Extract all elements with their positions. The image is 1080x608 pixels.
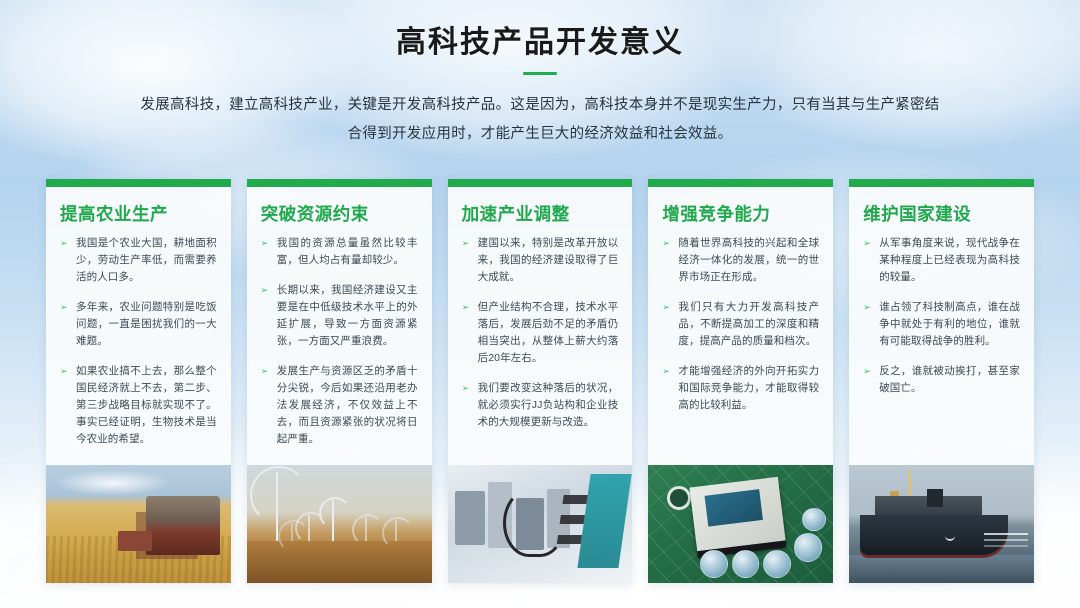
list-item: ➢ 我国是个农业大国，耕地面积少，劳动生产率低，而需要养活的人口多。 [60,235,217,286]
page-title: 高科技产品开发意义 [0,24,1080,62]
card-title: 突破资源约束 [261,204,418,225]
arrow-bullet-icon: ➢ [462,299,472,367]
list-item: ➢ 随着世界高科技的兴起和全球经济一体化的发展，统一的世界市场正在形成。 [662,235,819,286]
list-item: ➢ 反之，谁就被动挨打，甚至家破国亡。 [863,363,1020,397]
card-body: 突破资源约束 ➢ 我国的资源总量虽然比较丰富，但人均占有量却较少。 ➢ 长期以来… [247,187,432,465]
list-item: ➢ 从军事角度来说，现代战争在某种程度上已经表现为高科技的较量。 [863,235,1020,286]
arrow-bullet-icon: ➢ [863,299,873,350]
arrow-bullet-icon: ➢ [662,363,672,414]
list-item: ➢ 但产业结构不合理，技术水平落后，发展后劲不足的矛盾仍相当突出，从整体上薪大约… [462,299,619,367]
card-photo-wind-turbines [247,465,432,583]
card-accelerate-industry-adjustment[interactable]: 加速产业调整 ➢ 建国以来，特别是改革开放以来，我国的经济建设取得了巨大成就。 … [448,179,633,583]
page-subtitle: 发展高科技，建立高科技产业，关键是开发高科技产品。这是因为，高科技本身并不是现实… [140,91,940,149]
card-improve-agriculture[interactable]: 提高农业生产 ➢ 我国是个农业大国，耕地面积少，劳动生产率低，而需要养活的人口多… [46,179,231,583]
bullet-list: ➢ 我国是个农业大国，耕地面积少，劳动生产率低，而需要养活的人口多。 ➢ 多年来… [60,235,217,448]
arrow-bullet-icon: ➢ [462,235,472,286]
list-item: ➢ 才能增强经济的外向开拓实力和国际竞争能力，才能取得较高的比较利益。 [662,363,819,414]
card-safeguard-national-construction[interactable]: 维护国家建设 ➢ 从军事角度来说，现代战争在某种程度上已经表现为高科技的较量。 … [849,179,1034,583]
card-body: 加速产业调整 ➢ 建国以来，特别是改革开放以来，我国的经济建设取得了巨大成就。 … [448,187,633,465]
card-title: 加速产业调整 [462,204,619,225]
list-item: ➢ 长期以来，我国经济建设又主要是在中低级技术水平上的外延扩展，导致一方面资源紧… [261,282,418,350]
bullet-text: 多年来，农业问题特别是吃饭问题，一直是困扰我们的一大难题。 [76,299,217,350]
list-item: ➢ 建国以来，特别是改革开放以来，我国的经济建设取得了巨大成就。 [462,235,619,286]
bullet-text: 我国的资源总量虽然比较丰富，但人均占有量却较少。 [277,235,418,269]
arrow-bullet-icon: ➢ [261,282,271,350]
list-item: ➢ 发展生产与资源区乏的矛盾十分尖锐，今后如果还沿用老办法发展经济，不仅效益上不… [261,363,418,448]
bullet-text: 我国是个农业大国，耕地面积少，劳动生产率低，而需要养活的人口多。 [76,235,217,286]
bullet-text: 才能增强经济的外向开拓实力和国际竞争能力，才能取得较高的比较利益。 [678,363,819,414]
bullet-list: ➢ 我国的资源总量虽然比较丰富，但人均占有量却较少。 ➢ 长期以来，我国经济建设… [261,235,418,448]
bullet-text: 但产业结构不合理，技术水平落后，发展后劲不足的矛盾仍相当突出，从整体上薪大约落后… [478,299,619,367]
arrow-bullet-icon: ➢ [863,235,873,286]
bullet-text: 我们只有大力开发高科技产品，不断提高加工的深度和精度，提高产品的质量和档次。 [678,299,819,350]
card-photo-naval-warship [849,465,1034,583]
card-body: 提高农业生产 ➢ 我国是个农业大国，耕地面积少，劳动生产率低，而需要养活的人口多… [46,187,231,465]
bullet-text: 我们要改变这种落后的状况，就必须实行JJ负站构和企业技术的大规模更新与改造。 [478,380,619,431]
card-accent-bar [247,179,432,187]
card-title: 增强竞争能力 [662,204,819,225]
arrow-bullet-icon: ➢ [662,299,672,350]
title-divider [523,72,557,75]
card-enhance-competitiveness[interactable]: 增强竞争能力 ➢ 随着世界高科技的兴起和全球经济一体化的发展，统一的世界市场正在… [648,179,833,583]
card-photo-factory-automation [448,465,633,583]
card-accent-bar [448,179,633,187]
card-break-resource-constraints[interactable]: 突破资源约束 ➢ 我国的资源总量虽然比较丰富，但人均占有量却较少。 ➢ 长期以来… [247,179,432,583]
card-title: 提高农业生产 [60,204,217,225]
list-item: ➢ 谁占领了科技制高点，谁在战争中就处于有利的地位，谁就有可能取得战争的胜利。 [863,299,1020,350]
arrow-bullet-icon: ➢ [60,363,70,448]
bullet-text: 发展生产与资源区乏的矛盾十分尖锐，今后如果还沿用老办法发展经济，不仅效益上不去，… [277,363,418,448]
card-accent-bar [849,179,1034,187]
arrow-bullet-icon: ➢ [60,235,70,286]
slide-header: 高科技产品开发意义 发展高科技，建立高科技产业，关键是开发高科技产品。这是因为，… [0,24,1080,149]
bullet-text: 建国以来，特别是改革开放以来，我国的经济建设取得了巨大成就。 [478,235,619,286]
list-item: ➢ 我们要改变这种落后的状况，就必须实行JJ负站构和企业技术的大规模更新与改造。 [462,380,619,431]
card-accent-bar [46,179,231,187]
bullet-list: ➢ 随着世界高科技的兴起和全球经济一体化的发展，统一的世界市场正在形成。 ➢ 我… [662,235,819,414]
list-item: ➢ 我国的资源总量虽然比较丰富，但人均占有量却较少。 [261,235,418,269]
card-body: 增强竞争能力 ➢ 随着世界高科技的兴起和全球经济一体化的发展，统一的世界市场正在… [648,187,833,465]
bullet-text: 从军事角度来说，现代战争在某种程度上已经表现为高科技的较量。 [879,235,1020,286]
card-title: 维护国家建设 [863,204,1020,225]
card-accent-bar [648,179,833,187]
card-body: 维护国家建设 ➢ 从军事角度来说，现代战争在某种程度上已经表现为高科技的较量。 … [849,187,1034,465]
bullet-text: 长期以来，我国经济建设又主要是在中低级技术水平上的外延扩展，导致一方面资源紧张，… [277,282,418,350]
list-item: ➢ 我们只有大力开发高科技产品，不断提高加工的深度和精度，提高产品的质量和档次。 [662,299,819,350]
bullet-text: 谁占领了科技制高点，谁在战争中就处于有利的地位，谁就有可能取得战争的胜利。 [879,299,1020,350]
bullet-list: ➢ 从军事角度来说，现代战争在某种程度上已经表现为高科技的较量。 ➢ 谁占领了科… [863,235,1020,397]
arrow-bullet-icon: ➢ [863,363,873,397]
arrow-bullet-icon: ➢ [261,363,271,448]
bullet-text: 随着世界高科技的兴起和全球经济一体化的发展，统一的世界市场正在形成。 [678,235,819,286]
bullet-text: 如果农业搞不上去，那么整个国民经济就上不去，第二步、第三步战略目标就实现不了。事… [76,363,217,448]
card-row: 提高农业生产 ➢ 我国是个农业大国，耕地面积少，劳动生产率低，而需要养活的人口多… [46,179,1034,583]
arrow-bullet-icon: ➢ [462,380,472,431]
list-item: ➢ 如果农业搞不上去，那么整个国民经济就上不去，第二步、第三步战略目标就实现不了… [60,363,217,448]
arrow-bullet-icon: ➢ [60,299,70,350]
arrow-bullet-icon: ➢ [261,235,271,269]
arrow-bullet-icon: ➢ [662,235,672,286]
list-item: ➢ 多年来，农业问题特别是吃饭问题，一直是困扰我们的一大难题。 [60,299,217,350]
card-photo-wheat-field-harvester [46,465,231,583]
bullet-text: 反之，谁就被动挨打，甚至家破国亡。 [879,363,1020,397]
card-photo-cpu-circuit-board [648,465,833,583]
bullet-list: ➢ 建国以来，特别是改革开放以来，我国的经济建设取得了巨大成就。 ➢ 但产业结构… [462,235,619,431]
